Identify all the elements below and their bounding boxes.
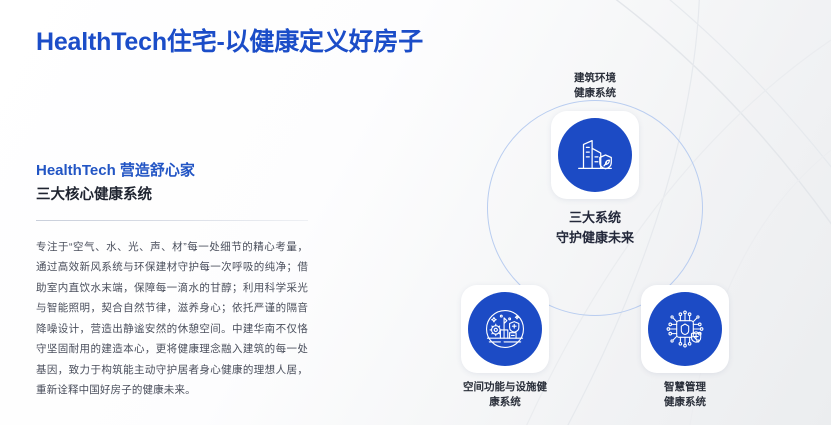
node-label-smart-management: 智慧管理 健康系统 xyxy=(610,380,760,410)
gear-building-shield-icon xyxy=(481,305,529,353)
building-shield-leaf-icon xyxy=(572,132,618,178)
section-divider xyxy=(36,220,308,221)
node-label-building-environment: 建筑环境 健康系统 xyxy=(520,71,670,101)
left-text-panel: HealthTech 营造舒心家 三大核心健康系统 专注于“空气、水、光、声、材… xyxy=(36,160,308,401)
subtitle-chinese: 三大核心健康系统 xyxy=(36,184,308,206)
chip-shield-plus-icon xyxy=(661,305,709,353)
diagram-center-text: 三大系统 守护健康未来 xyxy=(495,208,695,247)
diagram-node-building-environment[interactable] xyxy=(551,111,639,199)
node-icon-circle xyxy=(558,118,632,192)
node-icon-circle xyxy=(648,292,722,366)
subtitle-english: HealthTech 营造舒心家 xyxy=(36,160,308,183)
node-icon-circle xyxy=(468,292,542,366)
page-title: HealthTech住宅-以健康定义好房子 xyxy=(36,22,423,58)
body-paragraph: 专注于“空气、水、光、声、材”每一处细节的精心考量，通过高效新风系统与环保建材守… xyxy=(36,237,308,401)
node-label-space-function: 空间功能与设施健 康系统 xyxy=(430,380,580,410)
three-system-diagram: 三大系统 守护健康未来 建筑环 xyxy=(395,55,795,415)
slide-canvas: HealthTech住宅-以健康定义好房子 HealthTech 营造舒心家 三… xyxy=(0,0,831,425)
diagram-node-smart-management[interactable] xyxy=(641,285,729,373)
diagram-node-space-function[interactable] xyxy=(461,285,549,373)
